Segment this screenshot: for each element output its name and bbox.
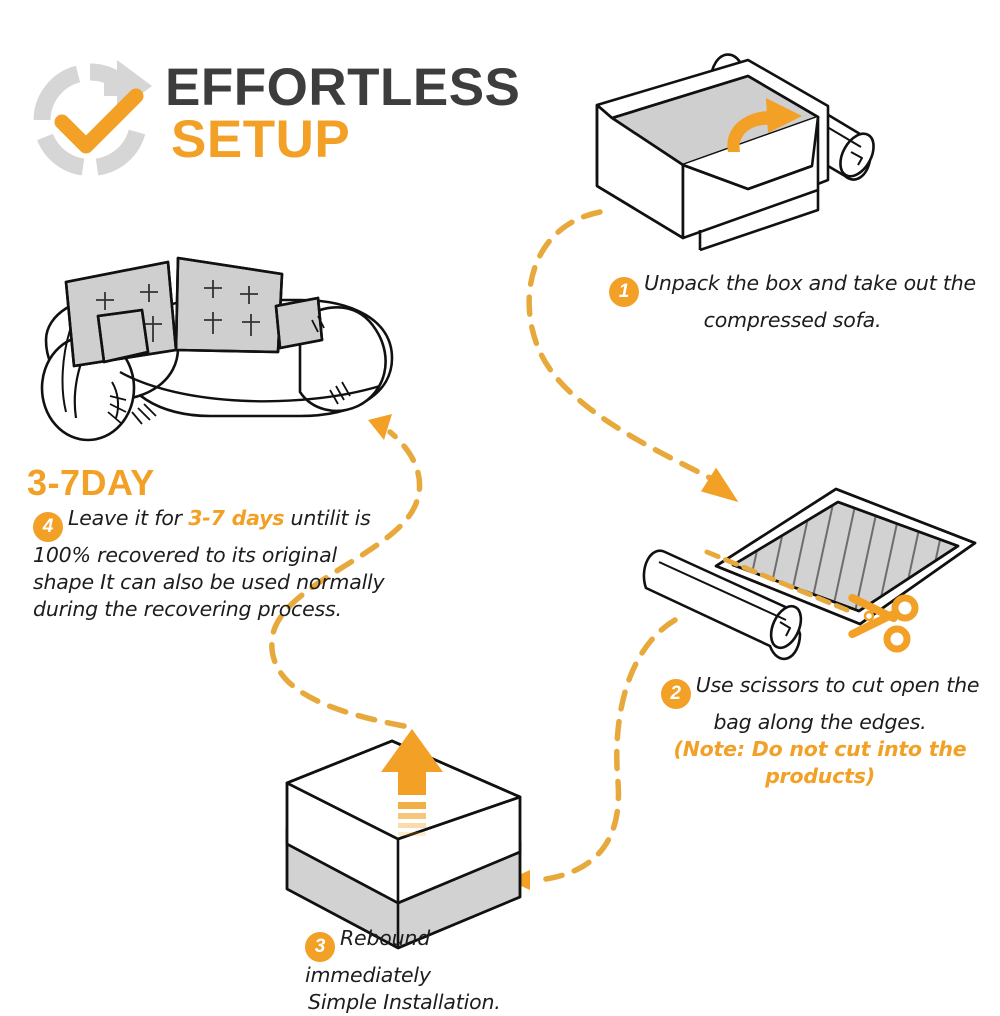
step-1-text: 1Unpack the box and take out the compres… (600, 270, 985, 334)
arrow-box-to-bag (529, 212, 746, 502)
step-3-badge: 3 (305, 932, 335, 962)
step-3-text: 3Rebound immediately Simple Installation… (305, 925, 545, 1016)
step-2-text: 2Use scissors to cut open the bag along … (650, 672, 990, 790)
vacuum-bag-illustration (644, 489, 975, 659)
box-body (597, 60, 828, 250)
infographic-canvas: EFFORTLESS SETUP (0, 0, 1000, 1000)
expanding-mattress-illustration (287, 729, 520, 948)
duration-heading: 3-7DAY (27, 462, 155, 504)
step-4-label-part1: Leave it for (68, 506, 188, 530)
step-2-badge: 2 (661, 679, 691, 709)
cardboard-box-illustration (597, 55, 880, 250)
step-2-label: Use scissors to cut open the bag along t… (696, 673, 980, 734)
step-4-text: 4Leave it for 3-7 days untilit is 100% r… (33, 505, 398, 623)
step-4-highlight: 3-7 days (188, 506, 284, 530)
step-1-badge: 1 (609, 277, 639, 307)
recovered-sofa-illustration (42, 258, 392, 440)
step-1-label: Unpack the box and take out the compress… (644, 271, 976, 332)
step-2-note: (Note: Do not cut into the products) (650, 736, 990, 790)
step-3-label-line2: Simple Installation. (308, 989, 545, 1016)
step-4-badge: 4 (33, 512, 63, 542)
